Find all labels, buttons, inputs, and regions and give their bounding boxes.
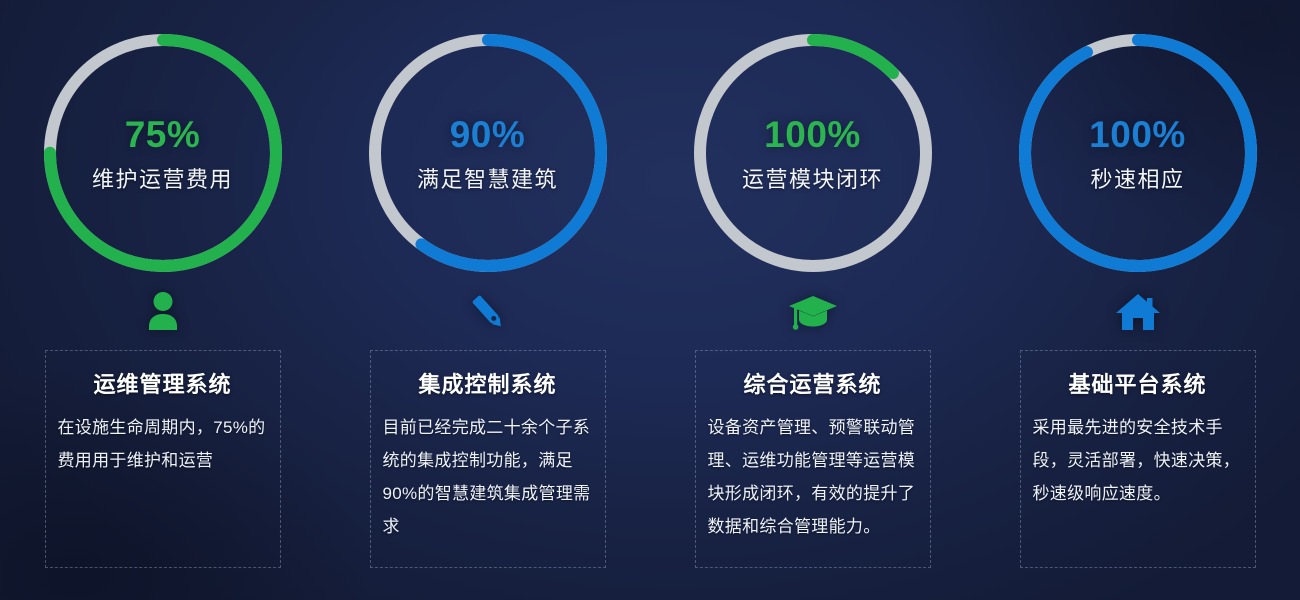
ring-caption: 维护运营费用: [92, 169, 233, 191]
card-title: 集成控制系统: [383, 367, 593, 399]
ring-percent: 100%: [1089, 116, 1186, 153]
ring-center-text: 90% 满足智慧建筑: [417, 116, 558, 191]
graduation-cap-icon: [787, 289, 839, 335]
card-title: 基础平台系统: [1033, 367, 1243, 399]
ring-percent: 100%: [742, 116, 883, 153]
user-icon: [139, 288, 187, 336]
ring-center-text: 75% 维护运营费用: [92, 116, 233, 191]
progress-ring: 100% 运营模块闭环: [688, 28, 938, 278]
progress-ring: 100% 秒速相应: [1013, 28, 1263, 278]
card-body: 在设施生命周期内，75%的费用用于维护和运营: [58, 411, 268, 477]
info-card: 基础平台系统 采用最先进的安全技术手段，灵活部署，快速决策，秒速级响应速度。: [1020, 350, 1256, 568]
metric-column: 90% 满足智慧建筑 集成控制系统 目前已经完成二十余个子系统的集成控制功能，满…: [325, 0, 650, 600]
column-icon: [139, 282, 187, 342]
metric-column: 100% 秒速相应 基础平台系统 采用最先进的安全技术手段，灵活部署，快速决策，…: [975, 0, 1300, 600]
card-body: 采用最先进的安全技术手段，灵活部署，快速决策，秒速级响应速度。: [1033, 411, 1243, 510]
ring-center-text: 100% 秒速相应: [1089, 116, 1186, 191]
progress-ring: 90% 满足智慧建筑: [363, 28, 613, 278]
infographic-canvas: 75% 维护运营费用 运维管理系统 在设施生命周期内，75%的费用用于维护和运营: [0, 0, 1300, 600]
metric-column: 100% 运营模块闭环 综合运营系统 设备资产管理、预警联动管理、运维功能管理等…: [650, 0, 975, 600]
ring-caption: 运营模块闭环: [742, 169, 883, 191]
ring-percent: 75%: [92, 116, 233, 153]
card-body: 设备资产管理、预警联动管理、运维功能管理等运营模块形成闭环，有效的提升了数据和综…: [708, 411, 918, 544]
column-icon: [465, 282, 511, 342]
metric-columns: 75% 维护运营费用 运维管理系统 在设施生命周期内，75%的费用用于维护和运营: [0, 0, 1300, 600]
info-card: 运维管理系统 在设施生命周期内，75%的费用用于维护和运营: [45, 350, 281, 568]
ring-center-text: 100% 运营模块闭环: [742, 116, 883, 191]
pencil-icon: [465, 289, 511, 335]
ring-percent: 90%: [417, 116, 558, 153]
column-icon: [787, 282, 839, 342]
info-card: 集成控制系统 目前已经完成二十余个子系统的集成控制功能，满足90%的智慧建筑集成…: [370, 350, 606, 568]
card-title: 运维管理系统: [58, 367, 268, 399]
metric-column: 75% 维护运营费用 运维管理系统 在设施生命周期内，75%的费用用于维护和运营: [0, 0, 325, 600]
home-icon: [1114, 290, 1162, 334]
column-icon: [1114, 282, 1162, 342]
ring-caption: 秒速相应: [1089, 169, 1186, 191]
card-title: 综合运营系统: [708, 367, 918, 399]
card-body: 目前已经完成二十余个子系统的集成控制功能，满足90%的智慧建筑集成管理需求: [383, 411, 593, 544]
progress-ring: 75% 维护运营费用: [38, 28, 288, 278]
info-card: 综合运营系统 设备资产管理、预警联动管理、运维功能管理等运营模块形成闭环，有效的…: [695, 350, 931, 568]
ring-caption: 满足智慧建筑: [417, 169, 558, 191]
